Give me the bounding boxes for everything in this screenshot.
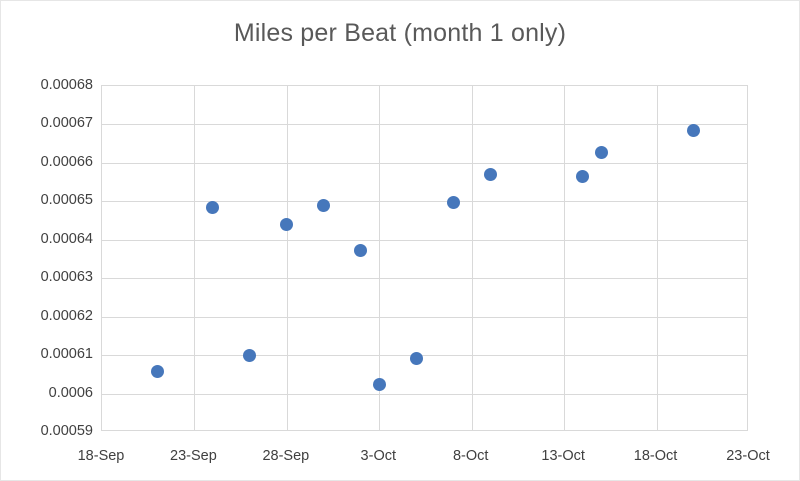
data-point[interactable] xyxy=(576,170,589,183)
x-axis-tick-label: 23-Oct xyxy=(726,448,770,464)
x-axis-tick-label: 8-Oct xyxy=(453,448,488,464)
y-axis-tick-label: 0.00068 xyxy=(41,78,93,92)
y-axis-tick-label: 0.00063 xyxy=(41,270,93,284)
x-axis-tick-label: 23-Sep xyxy=(170,448,217,464)
data-point[interactable] xyxy=(373,378,386,391)
x-axis-tick-label: 3-Oct xyxy=(361,448,396,464)
y-axis-tick-label: 0.00067 xyxy=(41,116,93,130)
plot-area xyxy=(101,85,748,431)
y-axis-tick-label: 0.00066 xyxy=(41,155,93,169)
gridline-vertical xyxy=(657,86,658,430)
gridline-horizontal xyxy=(102,394,747,395)
data-point[interactable] xyxy=(354,244,367,257)
data-point[interactable] xyxy=(687,124,700,137)
gridline-horizontal xyxy=(102,317,747,318)
x-axis-tick-label: 18-Sep xyxy=(78,448,125,464)
chart-title: Miles per Beat (month 1 only) xyxy=(1,18,799,48)
gridline-horizontal xyxy=(102,355,747,356)
x-axis-tick-label: 28-Sep xyxy=(262,448,309,464)
x-axis-tick-label: 18-Oct xyxy=(634,448,678,464)
y-axis-tick-label: 0.00061 xyxy=(41,347,93,361)
y-axis-tick-label: 0.0006 xyxy=(49,386,93,400)
data-point[interactable] xyxy=(447,196,460,209)
data-point[interactable] xyxy=(595,146,608,159)
data-point[interactable] xyxy=(410,352,423,365)
gridline-vertical xyxy=(287,86,288,430)
gridline-vertical xyxy=(564,86,565,430)
y-axis-tick-label: 0.00064 xyxy=(41,232,93,246)
gridline-vertical xyxy=(194,86,195,430)
x-axis-tick-label: 13-Oct xyxy=(541,448,585,464)
gridline-horizontal xyxy=(102,201,747,202)
y-axis-tick-label: 0.00065 xyxy=(41,193,93,207)
chart-container: Miles per Beat (month 1 only) 0.000680.0… xyxy=(0,0,800,481)
data-point[interactable] xyxy=(280,218,293,231)
gridline-horizontal xyxy=(102,124,747,125)
gridline-horizontal xyxy=(102,163,747,164)
data-point[interactable] xyxy=(206,201,219,214)
data-point[interactable] xyxy=(151,365,164,378)
y-axis-tick-label: 0.00059 xyxy=(41,424,93,438)
data-point[interactable] xyxy=(317,199,330,212)
y-axis-tick-label: 0.00062 xyxy=(41,309,93,323)
y-axis-tick-labels: 0.000680.000670.000660.000650.000640.000… xyxy=(1,1,93,481)
data-point[interactable] xyxy=(243,349,256,362)
data-point[interactable] xyxy=(484,168,497,181)
gridline-horizontal xyxy=(102,240,747,241)
gridline-vertical xyxy=(472,86,473,430)
gridline-horizontal xyxy=(102,278,747,279)
